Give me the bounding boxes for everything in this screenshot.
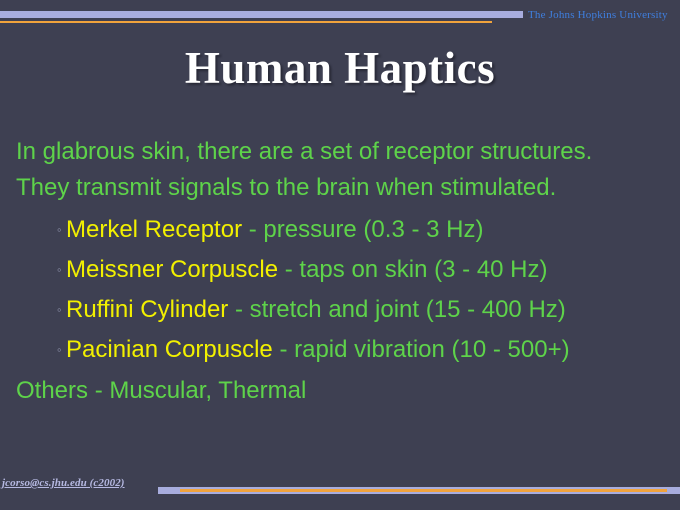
- bullet-circle-icon: ◦: [57, 330, 62, 370]
- others-line: Others - Muscular, Thermal: [16, 372, 664, 410]
- receptor-description: - stretch and joint (15 - 400 Hz): [228, 296, 565, 323]
- presentation-slide: The Johns Hopkins University Human Hapti…: [0, 0, 680, 510]
- list-item: ◦ Ruffini Cylinder - stretch and joint (…: [16, 290, 664, 330]
- intro-paragraph: In glabrous skin, there are a set of rec…: [16, 134, 648, 206]
- slide-body: In glabrous skin, there are a set of rec…: [16, 134, 664, 410]
- bullet-circle-icon: ◦: [57, 290, 62, 330]
- list-item: ◦ Meissner Corpuscle - taps on skin (3 -…: [16, 250, 664, 290]
- author-email-link[interactable]: jcorso@cs.jhu.edu (c2002): [2, 477, 125, 489]
- receptor-description: - rapid vibration (10 - 500+): [273, 336, 570, 363]
- institution-label: The Johns Hopkins University: [528, 9, 668, 21]
- list-item: ◦ Merkel Receptor - pressure (0.3 - 3 Hz…: [16, 210, 664, 250]
- receptor-list: ◦ Merkel Receptor - pressure (0.3 - 3 Hz…: [16, 210, 664, 370]
- receptor-name: Meissner Corpuscle: [66, 256, 278, 283]
- receptor-description: - pressure (0.3 - 3 Hz): [242, 216, 483, 243]
- bullet-circle-icon: ◦: [57, 250, 62, 290]
- receptor-name: Ruffini Cylinder: [66, 296, 228, 323]
- list-item: ◦ Pacinian Corpuscle - rapid vibration (…: [16, 330, 664, 370]
- receptor-name: Merkel Receptor: [66, 216, 242, 243]
- receptor-name: Pacinian Corpuscle: [66, 336, 273, 363]
- receptor-description: - taps on skin (3 - 40 Hz): [278, 256, 547, 283]
- bottom-orange-rule: [180, 489, 667, 492]
- top-lavender-rule: [0, 11, 523, 18]
- top-orange-rule: [0, 21, 492, 23]
- bullet-circle-icon: ◦: [57, 210, 62, 250]
- page-title: Human Haptics: [0, 42, 680, 94]
